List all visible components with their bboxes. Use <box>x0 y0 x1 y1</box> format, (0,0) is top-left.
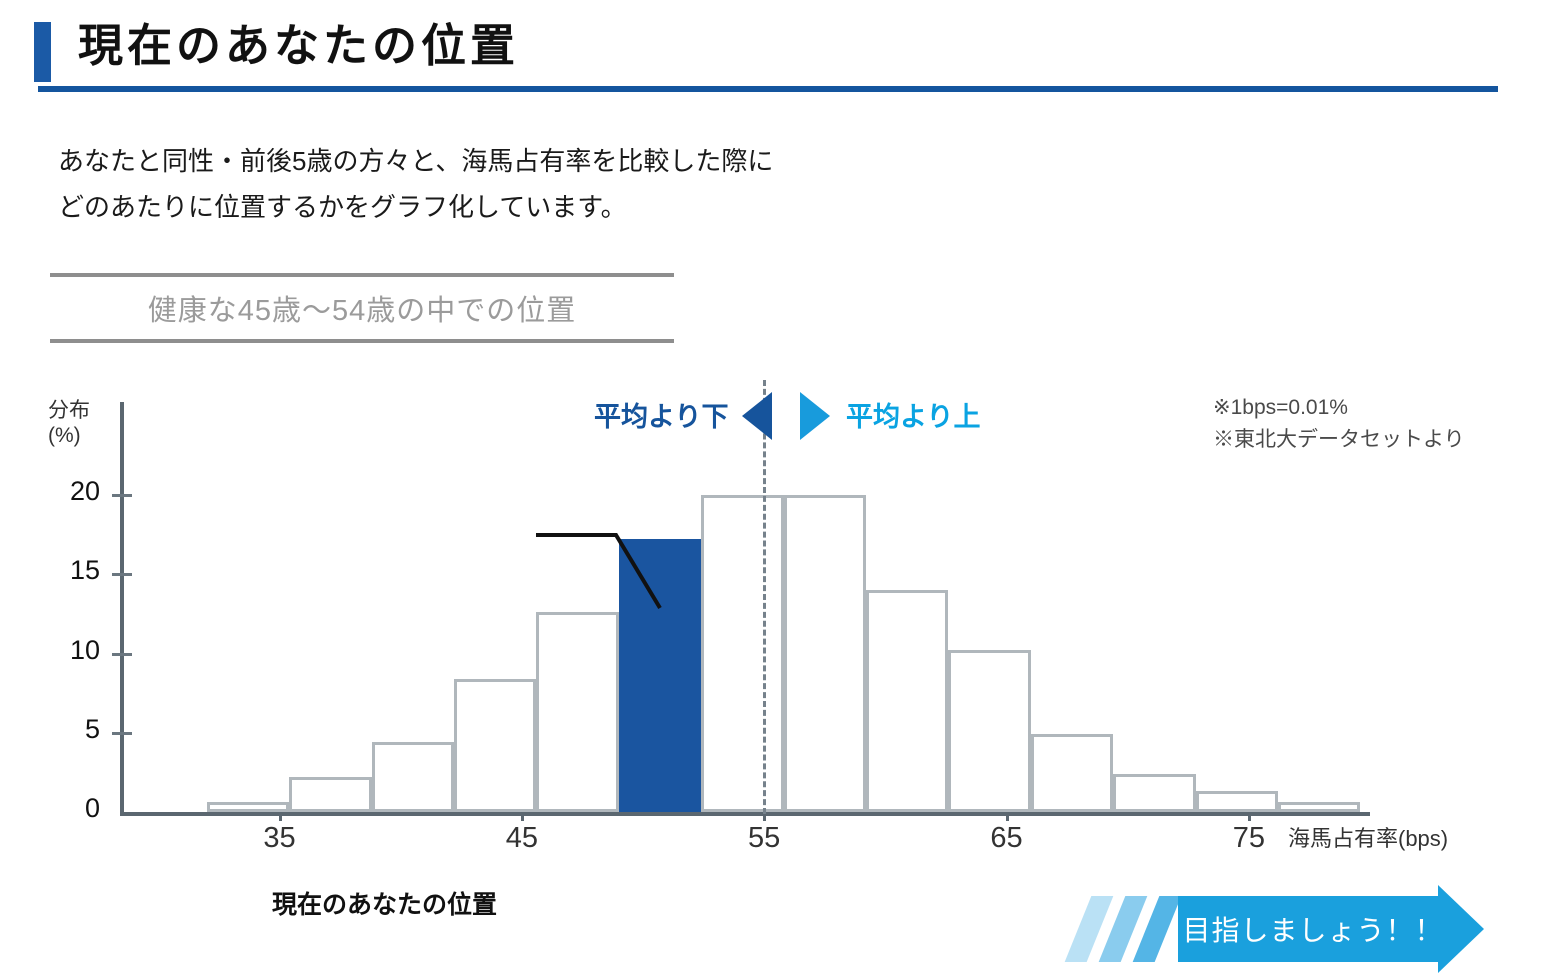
x-axis-line <box>120 812 1370 816</box>
bar <box>454 679 536 812</box>
y-tick-label: 10 <box>40 635 100 666</box>
banner-arrow-head-icon <box>1438 885 1484 973</box>
bar <box>1031 734 1113 812</box>
y-tick-label: 20 <box>40 476 100 507</box>
section-band: 健康な45歳〜54歳の中での位置 <box>50 273 674 343</box>
bar-highlight-current-position <box>619 539 701 812</box>
y-tick-label: 0 <box>40 793 100 824</box>
y-tick-mark <box>112 653 132 656</box>
bar <box>866 590 948 812</box>
lead-line-1: あなたと同性・前後5歳の方々と、海馬占有率を比較した際に <box>58 138 1058 184</box>
bar <box>701 495 783 812</box>
y-tick-label: 15 <box>40 555 100 586</box>
right-triangle-icon <box>800 392 830 440</box>
y-axis-title-text: 分布 <box>48 399 90 422</box>
y-tick-mark <box>112 732 132 735</box>
note-line-2: ※東北大データセットより <box>1213 424 1465 456</box>
x-tick-label: 75 <box>1209 822 1289 855</box>
x-tick-label: 65 <box>967 822 1047 855</box>
x-tick-mark <box>1248 812 1251 821</box>
x-tick-mark <box>1006 812 1009 821</box>
goal-banner-text: 目指しましょう！！ <box>1188 896 1438 962</box>
bar <box>1278 802 1360 812</box>
goal-banner: 目指しましょう！！ <box>1070 890 1490 968</box>
title-accent-bar <box>34 22 51 82</box>
note-line-1: ※1bps=0.01% <box>1213 392 1465 424</box>
bar <box>289 777 371 812</box>
y-axis-unit-text: (%) <box>48 424 81 447</box>
bar <box>1113 774 1195 812</box>
x-tick-label: 55 <box>724 822 804 855</box>
section-band-label: 健康な45歳〜54歳の中での位置 <box>50 277 674 339</box>
bar <box>536 612 618 812</box>
bar <box>372 742 454 812</box>
x-tick-mark <box>521 812 524 821</box>
x-tick-mark <box>279 812 282 821</box>
header-divider <box>38 86 1498 92</box>
lead-line-2: どのあたりに位置するかをグラフ化しています。 <box>58 184 1058 230</box>
bar <box>784 495 866 812</box>
lead-paragraph: あなたと同性・前後5歳の方々と、海馬占有率を比較した際に どのあたりに位置するか… <box>58 138 1058 230</box>
current-position-callout-label: 現在のあなたの位置 <box>272 888 497 922</box>
mean-line <box>763 380 766 814</box>
bar <box>207 802 289 812</box>
y-tick-label: 5 <box>40 714 100 745</box>
x-axis-title: 海馬占有率(bps) <box>1288 826 1448 851</box>
y-axis-line <box>120 402 124 814</box>
bar <box>948 650 1030 812</box>
y-tick-mark <box>112 573 132 576</box>
page-title: 現在のあなたの位置 <box>78 14 519 78</box>
below-average-label: 平均より下 <box>594 395 728 434</box>
distribution-chart: 分布 (%) 05101520 3545556575 海馬占有率(bps) 平均… <box>0 370 1542 870</box>
bar <box>1196 791 1278 812</box>
left-triangle-icon <box>742 392 772 440</box>
y-axis-title: 分布 (%) <box>48 398 90 448</box>
chart-notes: ※1bps=0.01% ※東北大データセットより <box>1213 392 1465 456</box>
x-tick-label: 35 <box>240 822 320 855</box>
y-tick-mark <box>112 494 132 497</box>
x-tick-label: 45 <box>482 822 562 855</box>
above-average-label: 平均より上 <box>846 395 980 434</box>
page-header: 現在のあなたの位置 <box>0 0 1542 105</box>
